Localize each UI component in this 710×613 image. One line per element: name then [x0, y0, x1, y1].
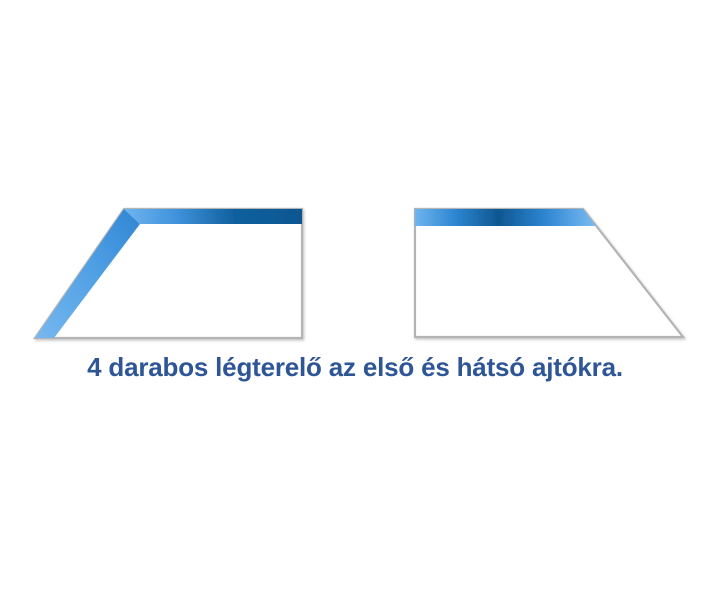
- deflector-svg: [0, 0, 710, 350]
- front-deflector-panel-outline: [35, 209, 302, 338]
- deflector-diagram: [0, 0, 710, 350]
- rear-deflector-panel-outline: [415, 209, 683, 337]
- figure-rear-door-deflector: [415, 209, 683, 337]
- caption-text: 4 darabos légterelő az első és hátsó ajt…: [0, 352, 710, 382]
- front-deflector-top-strip: [124, 209, 302, 224]
- product-illustration-page: 4 darabos légterelő az első és hátsó ajt…: [0, 0, 710, 613]
- rear-deflector-top-strip: [415, 209, 596, 226]
- figure-front-door-deflector: [35, 209, 302, 338]
